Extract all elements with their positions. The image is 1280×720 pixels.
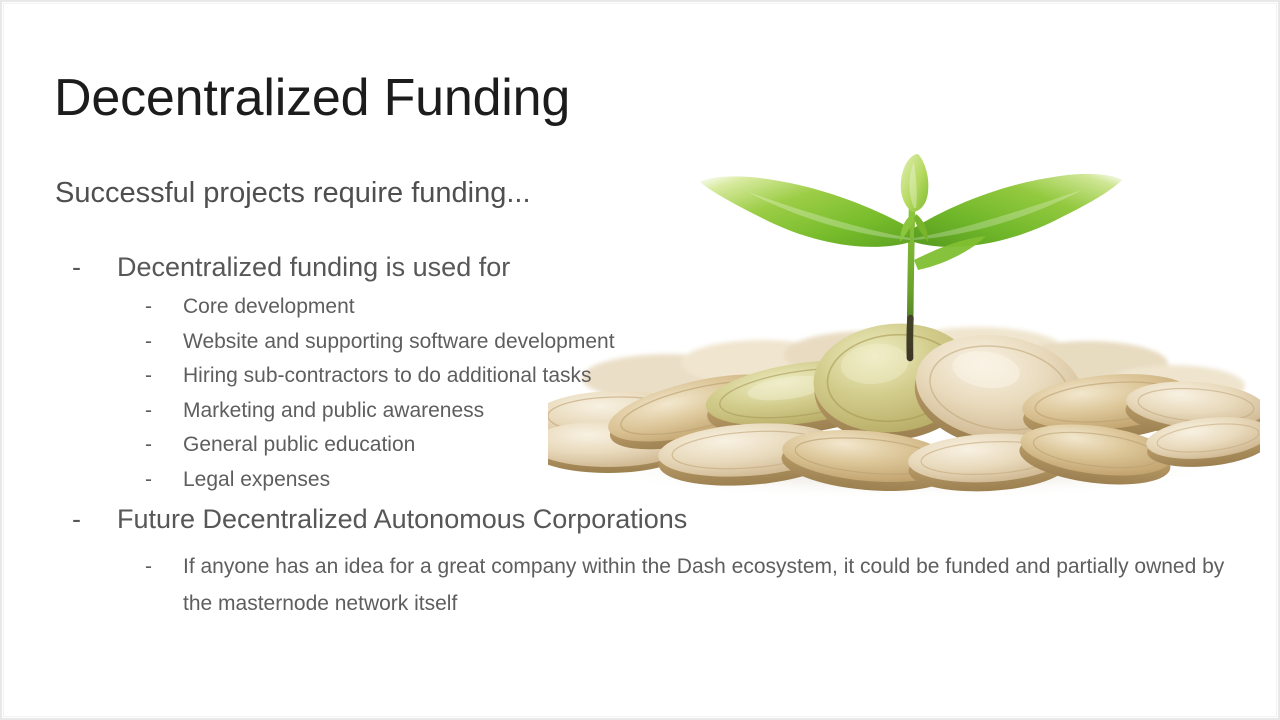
page-title: Decentralized Funding: [54, 68, 570, 128]
bullet-dash-icon: -: [72, 250, 117, 284]
list-item-label: Legal expenses: [183, 468, 330, 491]
list-item: -Core development: [145, 290, 615, 325]
bullet-section-2-heading: -Future Decentralized Autonomous Corpora…: [72, 502, 687, 536]
list-item: -Marketing and public awareness: [145, 394, 615, 429]
bullet-dash-icon: -: [145, 548, 183, 585]
lead-paragraph: Successful projects require funding...: [55, 174, 531, 212]
bullet-dash-icon: -: [145, 325, 183, 360]
list-item-label: General public education: [183, 433, 415, 456]
bullet-dash-icon: -: [145, 290, 183, 325]
seedling-on-coins-image: [548, 150, 1260, 500]
bullet-dash-icon: -: [145, 463, 183, 498]
list-item: -Legal expenses: [145, 463, 615, 498]
list-item-label: Core development: [183, 295, 355, 318]
bullet-section-1-label: Decentralized funding is used for: [117, 252, 510, 282]
bullet-section-2-label: Future Decentralized Autonomous Corporat…: [117, 504, 687, 534]
list-item: -Website and supporting software develop…: [145, 325, 615, 360]
bullet-section-1-list: -Core development -Website and supportin…: [145, 290, 615, 498]
bullet-dash-icon: -: [145, 359, 183, 394]
bullet-dash-icon: -: [145, 428, 183, 463]
list-item: -Hiring sub-contractors to do additional…: [145, 359, 615, 394]
list-item-label: Website and supporting software developm…: [183, 330, 615, 353]
list-item: -General public education: [145, 428, 615, 463]
list-item-label: Marketing and public awareness: [183, 399, 484, 422]
list-item-label: Hiring sub-contractors to do additional …: [183, 364, 592, 387]
list-item-label: If anyone has an idea for a great compan…: [183, 555, 1224, 615]
list-item: -If anyone has an idea for a great compa…: [145, 548, 1235, 622]
presentation-slide: Decentralized Funding Successful project…: [0, 0, 1280, 720]
bullet-dash-icon: -: [72, 502, 117, 536]
bullet-section-1-heading: -Decentralized funding is used for: [72, 250, 510, 284]
bullet-dash-icon: -: [145, 394, 183, 429]
